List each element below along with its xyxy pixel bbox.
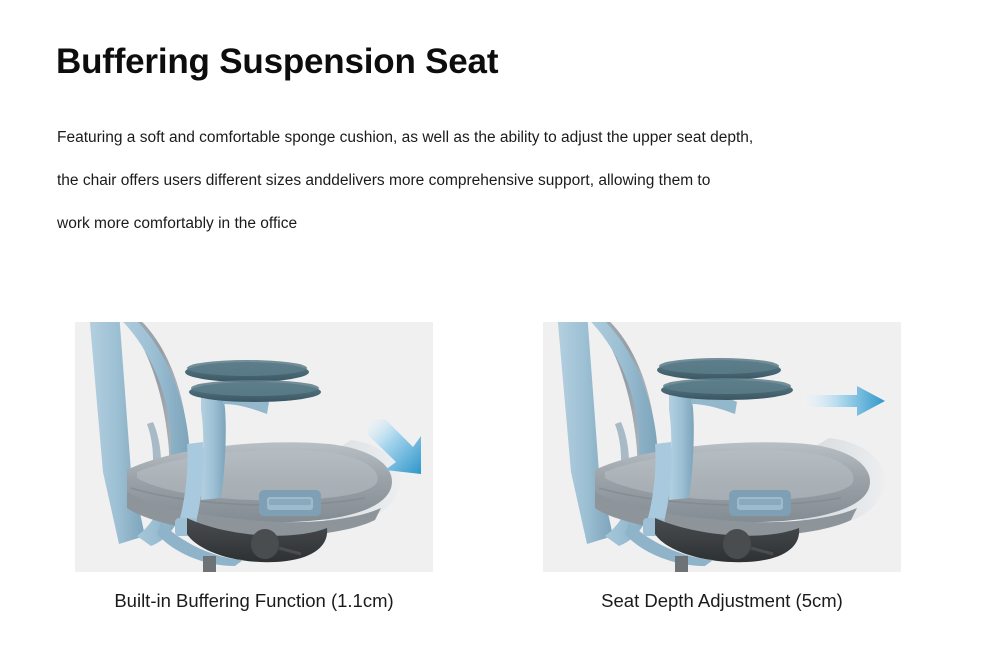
gas-cylinder — [203, 556, 216, 572]
tension-knob[interactable] — [723, 529, 751, 559]
tension-knob[interactable] — [251, 529, 279, 559]
product-image-seat-depth — [543, 322, 901, 572]
seat-depth-lever[interactable] — [729, 490, 791, 516]
page-title: Buffering Suspension Seat — [56, 42, 498, 82]
page-description: Featuring a soft and comfortable sponge … — [57, 116, 857, 245]
armrest-post — [201, 384, 226, 500]
description-line-3: work more comfortably in the office — [57, 202, 857, 245]
armrest-post — [669, 384, 694, 500]
down-right-arrow-icon — [363, 418, 425, 480]
product-image-buffering — [75, 322, 433, 572]
description-line-2: the chair offers users different sizes a… — [57, 159, 857, 202]
figure-gallery: Built-in Buffering Function (1.1cm) — [0, 322, 1000, 642]
figure-seat-depth: Seat Depth Adjustment (5cm) — [543, 322, 901, 572]
right-arrow-icon — [801, 384, 887, 418]
office-chair-illustration-extended — [543, 322, 901, 572]
armrest-pad-upper-highlight — [187, 360, 307, 376]
figure-caption-seat-depth: Seat Depth Adjustment (5cm) — [543, 590, 901, 612]
figure-caption-buffering: Built-in Buffering Function (1.1cm) — [75, 590, 433, 612]
seat-depth-lever[interactable] — [259, 490, 321, 516]
armrest-pad-upper-highlight — [659, 358, 779, 374]
description-line-1: Featuring a soft and comfortable sponge … — [57, 116, 857, 159]
gas-cylinder — [675, 556, 688, 572]
armrest-pad-lower-highlight — [191, 380, 319, 396]
armrest-pad-lower-highlight — [663, 378, 791, 394]
figure-buffering: Built-in Buffering Function (1.1cm) — [75, 322, 433, 572]
